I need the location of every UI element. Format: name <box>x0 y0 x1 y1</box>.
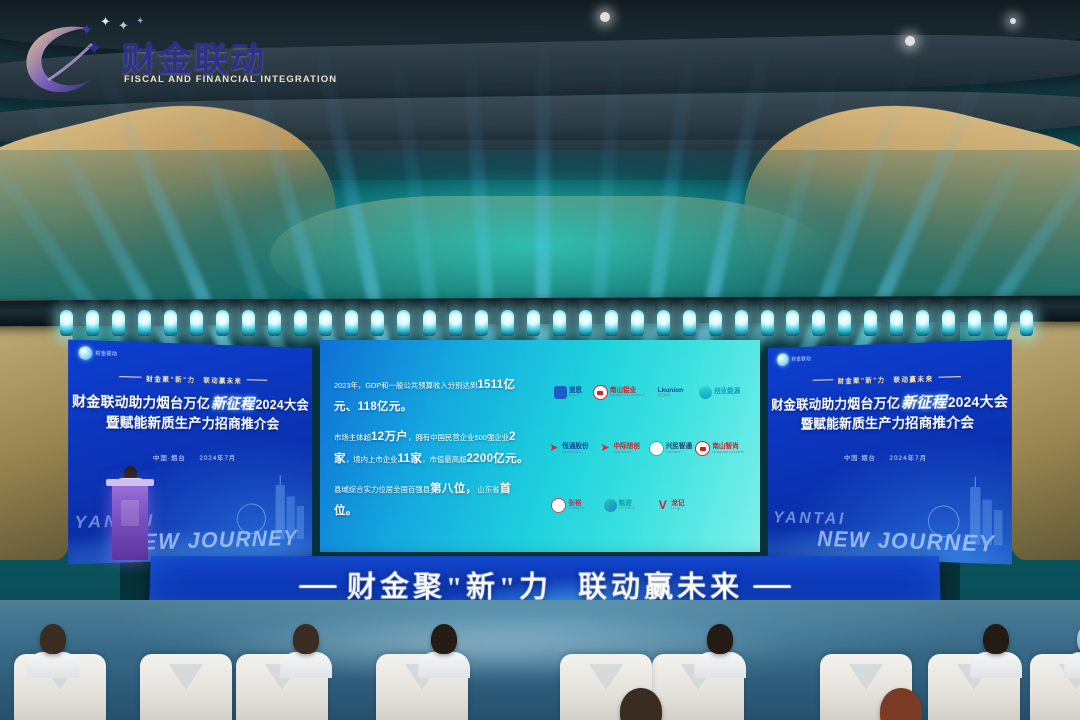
moving-head-light <box>345 310 358 336</box>
moving-head-light <box>475 310 488 336</box>
moving-head-light <box>397 310 410 336</box>
company-logo: V龙记Longji <box>648 479 692 532</box>
panel-logo-label: 财金联动 <box>792 355 812 362</box>
panel-title-line2: 暨赋能新质生产力招商推介会 <box>768 410 1012 432</box>
stat-label: 2023年，GDP和一般公共预算收入分别达到 <box>334 381 477 390</box>
stat-label: 县域综合实力位居全国百强县 <box>334 485 430 494</box>
statistic-paragraph: 市场主体超12万户，拥有中国民营企业500强企业2家，境内上市企业11家，市值最… <box>334 426 534 471</box>
company-name-en: HENGTONG <box>562 451 588 454</box>
moving-head-light <box>319 310 332 336</box>
swoosh-logo-icon <box>777 353 789 366</box>
panel-title-line2: 暨赋能新质生产力招商推介会 <box>68 410 312 432</box>
moving-head-light <box>812 310 825 336</box>
audience-member-head <box>880 688 922 720</box>
audience-member-body <box>418 652 470 678</box>
company-name-cn: 创业能源 <box>714 389 740 396</box>
panel-location: 中国·烟台 <box>153 455 186 462</box>
moving-head-light <box>916 310 929 336</box>
moving-head-light <box>942 310 955 336</box>
ceiling-light <box>905 36 915 46</box>
company-name-en: NANSHAN FASHION <box>712 451 744 454</box>
company-name-en: CONTRUE <box>619 507 635 510</box>
panel-logo: 财金联动 <box>777 352 811 366</box>
moving-head-light <box>294 310 307 336</box>
moving-head-light <box>994 310 1007 336</box>
moving-head-light <box>112 310 125 336</box>
wall-gold-panel-right <box>1000 300 1080 560</box>
stat-value: 2200亿元。 <box>466 453 528 465</box>
moving-head-light <box>786 310 799 336</box>
ceiling-light <box>600 12 610 22</box>
title-script: 新征程 <box>900 395 948 412</box>
square-blue-icon <box>554 386 567 399</box>
moving-head-light <box>735 310 748 336</box>
company-logo: 魁迹CONTRUE <box>593 479 646 532</box>
stat-value: 12万户 <box>371 431 408 443</box>
statistics-text-block: 2023年，GDP和一般公共预算收入分别达到1511亿元、118亿元。市场主体超… <box>334 350 534 542</box>
audience-member-head <box>293 624 319 654</box>
moving-head-light <box>371 310 384 336</box>
company-logo: 南山智尚NANSHAN FASHION <box>695 422 744 475</box>
company-name-en: 龙口联合 <box>658 394 684 397</box>
company-logo: 南山铝业NANSHAN ALUMINIUM <box>593 366 646 419</box>
audience-member-body <box>694 652 746 678</box>
company-name-en: NANSHAN ALUMINIUM <box>610 394 646 397</box>
podium-emblem <box>121 500 139 526</box>
moving-head-light <box>268 310 281 336</box>
moving-head-light <box>579 310 592 336</box>
moving-head-light <box>761 310 774 336</box>
audience-chair <box>140 654 232 720</box>
crown-rose-icon <box>551 498 566 513</box>
moving-head-light <box>423 310 436 336</box>
moving-head-light <box>242 310 255 336</box>
led-panel-left: 财金联动 财金聚"新"力 联动赢未来 财金联动助力烟台万亿新征程2024大会 暨… <box>68 339 312 564</box>
audience-member-body <box>970 652 1022 678</box>
moving-head-light <box>449 310 462 336</box>
title-part-a: 财金联动助力烟台万亿 <box>771 396 900 413</box>
company-logo: 张裕CHANGYU <box>546 479 590 532</box>
panel-date: 中国·烟台2024年7月 <box>768 452 1012 462</box>
moving-head-light <box>631 310 644 336</box>
led-panel-right: 财金联动 财金聚"新"力 联动赢未来 财金联动助力烟台万亿新征程2024大会 暨… <box>768 339 1012 564</box>
circle-teal-icon <box>699 386 712 399</box>
panel-date-text: 2024年7月 <box>889 455 927 462</box>
audience-member-body <box>280 652 332 678</box>
panel-logo-label: 财金联动 <box>95 350 117 358</box>
company-logo: 兴民智通XINGMIN <box>648 422 692 475</box>
stat-label: ，境内上市企业 <box>346 455 398 464</box>
v-red-icon: V <box>656 499 669 512</box>
panel-tagline-text: 财金聚"新"力 联动赢未来 <box>146 376 242 385</box>
circle-green-icon <box>604 499 617 512</box>
company-name-en: DAWN <box>569 394 582 397</box>
panel-date: 中国·烟台2024年7月 <box>68 452 312 462</box>
moving-head-light <box>164 310 177 336</box>
circle-line-icon <box>649 441 664 456</box>
panel-logo: 财金联动 <box>79 346 118 361</box>
stat-label: 市场主体超 <box>334 433 371 442</box>
moving-head-light <box>683 310 696 336</box>
audience-member-head <box>431 624 457 654</box>
company-name-en: CHANGYU <box>568 507 584 510</box>
company-logo-grid: 道恩DAWN南山铝业NANSHAN ALUMINIUMLkunion龙口联合创业… <box>544 350 746 542</box>
moving-head-light <box>864 310 877 336</box>
stat-label: 山东省 <box>477 485 499 494</box>
circle-red-icon <box>593 385 608 400</box>
moving-head-light <box>527 310 540 336</box>
company-name-en: XINGMIN <box>666 451 692 454</box>
moving-head-light <box>138 310 151 336</box>
podium <box>112 484 148 560</box>
moving-head-light <box>605 310 618 336</box>
audience-member-head <box>983 624 1009 654</box>
panel-date-text: 2024年7月 <box>199 455 236 462</box>
stat-label: ，拥有中国民营企业500强企业 <box>408 433 509 442</box>
audience-member-body <box>27 652 79 678</box>
moving-head-light <box>709 310 722 336</box>
swoosh-logo-icon <box>79 346 93 360</box>
company-name-en: Longji <box>671 507 684 510</box>
moving-head-light <box>501 310 514 336</box>
moving-head-light <box>553 310 566 336</box>
stat-label: ，市值最高超 <box>422 455 466 464</box>
moving-head-light <box>216 310 229 336</box>
conference-photo: 财金联动 财金聚"新"力 联动赢未来 财金联动助力烟台万亿新征程2024大会 暨… <box>0 0 1080 720</box>
audience-member-head <box>707 624 733 654</box>
audience-area <box>0 600 1080 720</box>
watermark-logo: ✦ ✦ ✦ ✦ ✦ 财金联动 FISCAL AND FINANCIAL INTE… <box>18 10 298 102</box>
panel-tagline-text: 财金聚"新"力 联动赢未来 <box>838 376 934 385</box>
stat-value: 第八位， <box>430 483 477 495</box>
watermark-subtitle: FISCAL AND FINANCIAL INTEGRATION <box>124 74 337 85</box>
panel-location: 中国·烟台 <box>844 455 876 462</box>
moving-head-light <box>657 310 670 336</box>
moving-head-light <box>890 310 903 336</box>
swoosh-red-icon: ➤ <box>598 442 611 455</box>
wing-red-icon: ➤ <box>547 442 560 455</box>
statistic-paragraph: 2023年，GDP和一般公共预算收入分别达到1511亿元、118亿元。 <box>334 374 534 419</box>
led-panel-center: 2023年，GDP和一般公共预算收入分别达到1511亿元、118亿元。市场主体超… <box>320 340 760 552</box>
moving-head-light <box>1020 310 1033 336</box>
moving-head-light <box>60 310 73 336</box>
moving-head-light <box>838 310 851 336</box>
company-logo: Lkunion龙口联合 <box>648 366 692 419</box>
moving-head-light <box>190 310 203 336</box>
audience-member-head <box>40 624 66 654</box>
company-logo: ➤中际旭创INNOLIGHT <box>593 422 646 475</box>
title-part-a: 财金联动助力烟台万亿 <box>72 394 210 411</box>
circle-red-icon <box>695 441 710 456</box>
panel-tagline: 财金聚"新"力 联动赢未来 <box>68 371 312 387</box>
title-script: 新征程 <box>210 396 255 413</box>
skyline-graphic <box>223 467 308 541</box>
podium-top <box>106 479 154 486</box>
moving-head-light <box>86 310 99 336</box>
stat-value: 11家 <box>398 453 423 465</box>
ceiling-teal-glow <box>0 150 1080 300</box>
company-logo: ➤恒通股份HENGTONG <box>546 422 590 475</box>
company-name-en: INNOLIGHT <box>613 451 639 454</box>
title-part-b: 2024大会 <box>948 394 1008 410</box>
skyline-graphic <box>914 468 1008 545</box>
company-logo: 道恩DAWN <box>546 366 590 419</box>
panel-tagline: 财金聚"新"力 联动赢未来 <box>768 371 1012 387</box>
moving-head-light <box>968 310 981 336</box>
ceiling-light <box>1010 18 1016 24</box>
statistic-paragraph: 县域综合实力位居全国百强县第八位，山东省首位。 <box>334 478 534 523</box>
company-logo: 创业能源 <box>695 366 744 419</box>
title-part-b: 2024大会 <box>255 397 309 412</box>
